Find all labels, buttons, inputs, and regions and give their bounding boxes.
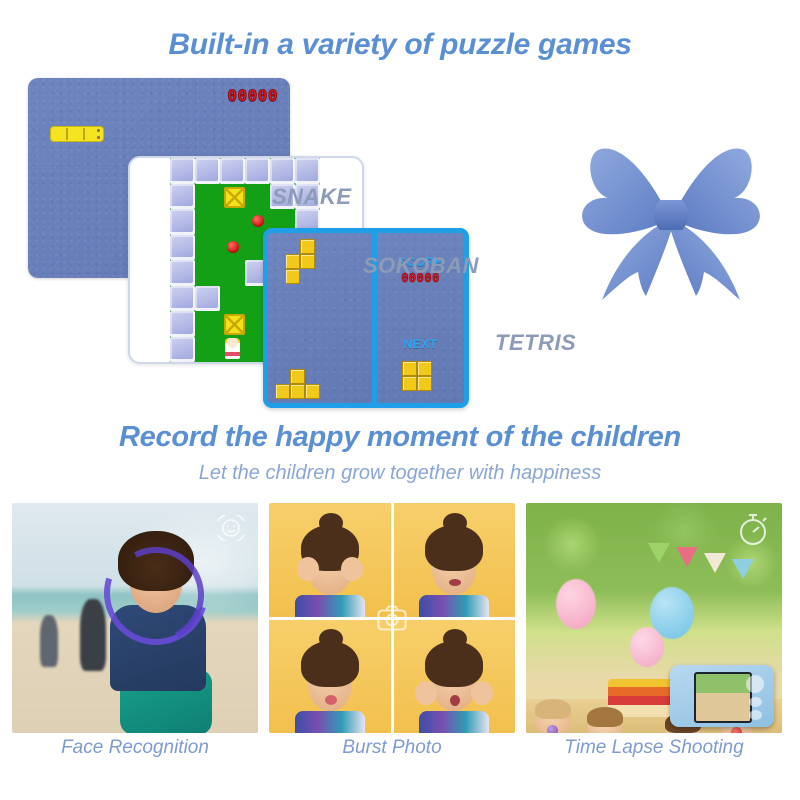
- girl-mouth: [450, 695, 460, 706]
- sokoban-wall: [170, 286, 195, 312]
- tetris-block: [285, 269, 300, 284]
- girl-top: [295, 711, 365, 733]
- sokoban-wall: [295, 158, 320, 184]
- dpad-button: [746, 675, 764, 693]
- girl-mouth: [449, 579, 461, 586]
- sokoban-wall: [195, 158, 220, 184]
- tetris-block: [275, 384, 290, 399]
- snake-eyes-icon: [97, 129, 100, 132]
- girl-hand: [471, 681, 493, 705]
- game-label-tetris: TETRIS: [495, 330, 576, 356]
- tetris-next-block: [402, 376, 417, 391]
- stopwatch-icon: [736, 511, 770, 547]
- page-subtitle: Let the children grow together with happ…: [0, 462, 800, 485]
- device-screen: [694, 672, 752, 723]
- kids-camera-device: [670, 665, 774, 727]
- child-hair: [535, 699, 571, 719]
- sokoban-player: [220, 337, 245, 363]
- girl-tongue: [325, 695, 337, 705]
- snake-sprite: [50, 126, 104, 142]
- game-label-sokoban: SOKOBAN: [363, 253, 479, 279]
- tetris-next-block: [402, 361, 417, 376]
- burst-frame: [394, 620, 516, 734]
- sokoban-floor: [195, 184, 220, 210]
- sokoban-wall: [170, 158, 195, 184]
- feature-caption: Burst Photo: [269, 737, 515, 759]
- burst-frame: [269, 620, 391, 734]
- sokoban-floor: [220, 286, 245, 312]
- girl-hand: [341, 557, 363, 581]
- burst-frame: [394, 503, 516, 617]
- sokoban-wall: [170, 362, 195, 364]
- sokoban-wall: [170, 311, 195, 337]
- feature-caption: Face Recognition: [12, 737, 258, 759]
- girl-top: [419, 595, 489, 617]
- sokoban-wall: [220, 362, 245, 364]
- tetris-block: [290, 384, 305, 399]
- clown-nose: [731, 727, 742, 733]
- feature-card-burst-photo: Burst Photo: [269, 503, 515, 733]
- tetris-block: [300, 254, 315, 269]
- sokoban-floor: [195, 260, 220, 286]
- sokoban-floor: [245, 184, 270, 210]
- tetris-next-block: [417, 361, 432, 376]
- sokoban-wall: [195, 286, 220, 312]
- sokoban-target: [220, 235, 245, 261]
- ribbon-bow-icon: [556, 136, 786, 306]
- product-feature-page: Built-in a variety of puzzle games 00000: [0, 0, 800, 800]
- child-hair: [587, 707, 623, 727]
- sokoban-floor: [220, 209, 245, 235]
- sokoban-wall: [195, 362, 220, 364]
- girl-hair-bun: [443, 513, 467, 533]
- background-person: [40, 615, 58, 667]
- bunting-flag: [704, 553, 726, 573]
- sokoban-wall: [170, 184, 195, 210]
- tetris-next-label: NEXT: [377, 337, 464, 351]
- sokoban-wall: [220, 158, 245, 184]
- bunting-flag: [648, 543, 670, 563]
- girl-portrait: [417, 641, 491, 733]
- sokoban-floor: [195, 209, 220, 235]
- girl-portrait: [293, 641, 367, 733]
- device-button: [749, 697, 762, 707]
- sokoban-floor: [195, 311, 220, 337]
- bunting-flag: [676, 547, 698, 567]
- tetris-playfield: [268, 233, 372, 403]
- girl-hair-bun: [319, 513, 343, 533]
- snake-score: 00000: [227, 86, 278, 105]
- feature-card-time-lapse: Time Lapse Shooting: [526, 503, 782, 733]
- camera-icon: [377, 605, 407, 631]
- page-title-record: Record the happy moment of the children: [0, 421, 800, 454]
- girl-hair-bun: [443, 629, 467, 649]
- sokoban-wall: [170, 209, 195, 235]
- feature-card-face-recognition: Face Recognition: [12, 503, 258, 733]
- tetris-block: [300, 239, 315, 254]
- girl-hair-bun: [319, 629, 343, 649]
- sokoban-wall: [245, 158, 270, 184]
- girl-top: [419, 711, 489, 733]
- sokoban-wall: [270, 158, 295, 184]
- smiley-face-icon: [214, 511, 248, 545]
- sokoban-crate: [220, 311, 245, 337]
- burst-frame: [269, 503, 391, 617]
- photo-beach-boy: [12, 503, 258, 733]
- sokoban-wall: [170, 260, 195, 286]
- sokoban-floor: [195, 337, 220, 363]
- sokoban-crate: [220, 184, 245, 210]
- girl-portrait: [293, 525, 367, 617]
- girl-portrait: [417, 525, 491, 617]
- sokoban-wall: [170, 337, 195, 363]
- balloon: [556, 579, 596, 629]
- sokoban-floor: [220, 260, 245, 286]
- balloon: [630, 627, 664, 667]
- sokoban-wall: [170, 235, 195, 261]
- feature-photo-row: Face Recognition: [0, 503, 800, 743]
- girl-top: [295, 595, 365, 617]
- girl-hand: [415, 681, 437, 705]
- feature-caption: Time Lapse Shooting: [526, 737, 782, 759]
- photo-birthday-party: [526, 503, 782, 733]
- photo-burst-grid: [269, 503, 515, 733]
- game-label-snake: SNAKE: [272, 184, 352, 210]
- clown-nose: [547, 725, 558, 733]
- tetris-next-block: [417, 376, 432, 391]
- sokoban-floor: [195, 235, 220, 261]
- games-showcase: 00000 SCORE 00000 NE: [0, 70, 800, 415]
- girl-hand: [297, 557, 319, 581]
- device-button: [749, 710, 762, 720]
- page-title-games: Built-in a variety of puzzle games: [0, 28, 800, 62]
- tetris-block: [290, 369, 305, 384]
- tetris-block: [305, 384, 320, 399]
- bunting-flag: [732, 559, 754, 579]
- tetris-block: [285, 254, 300, 269]
